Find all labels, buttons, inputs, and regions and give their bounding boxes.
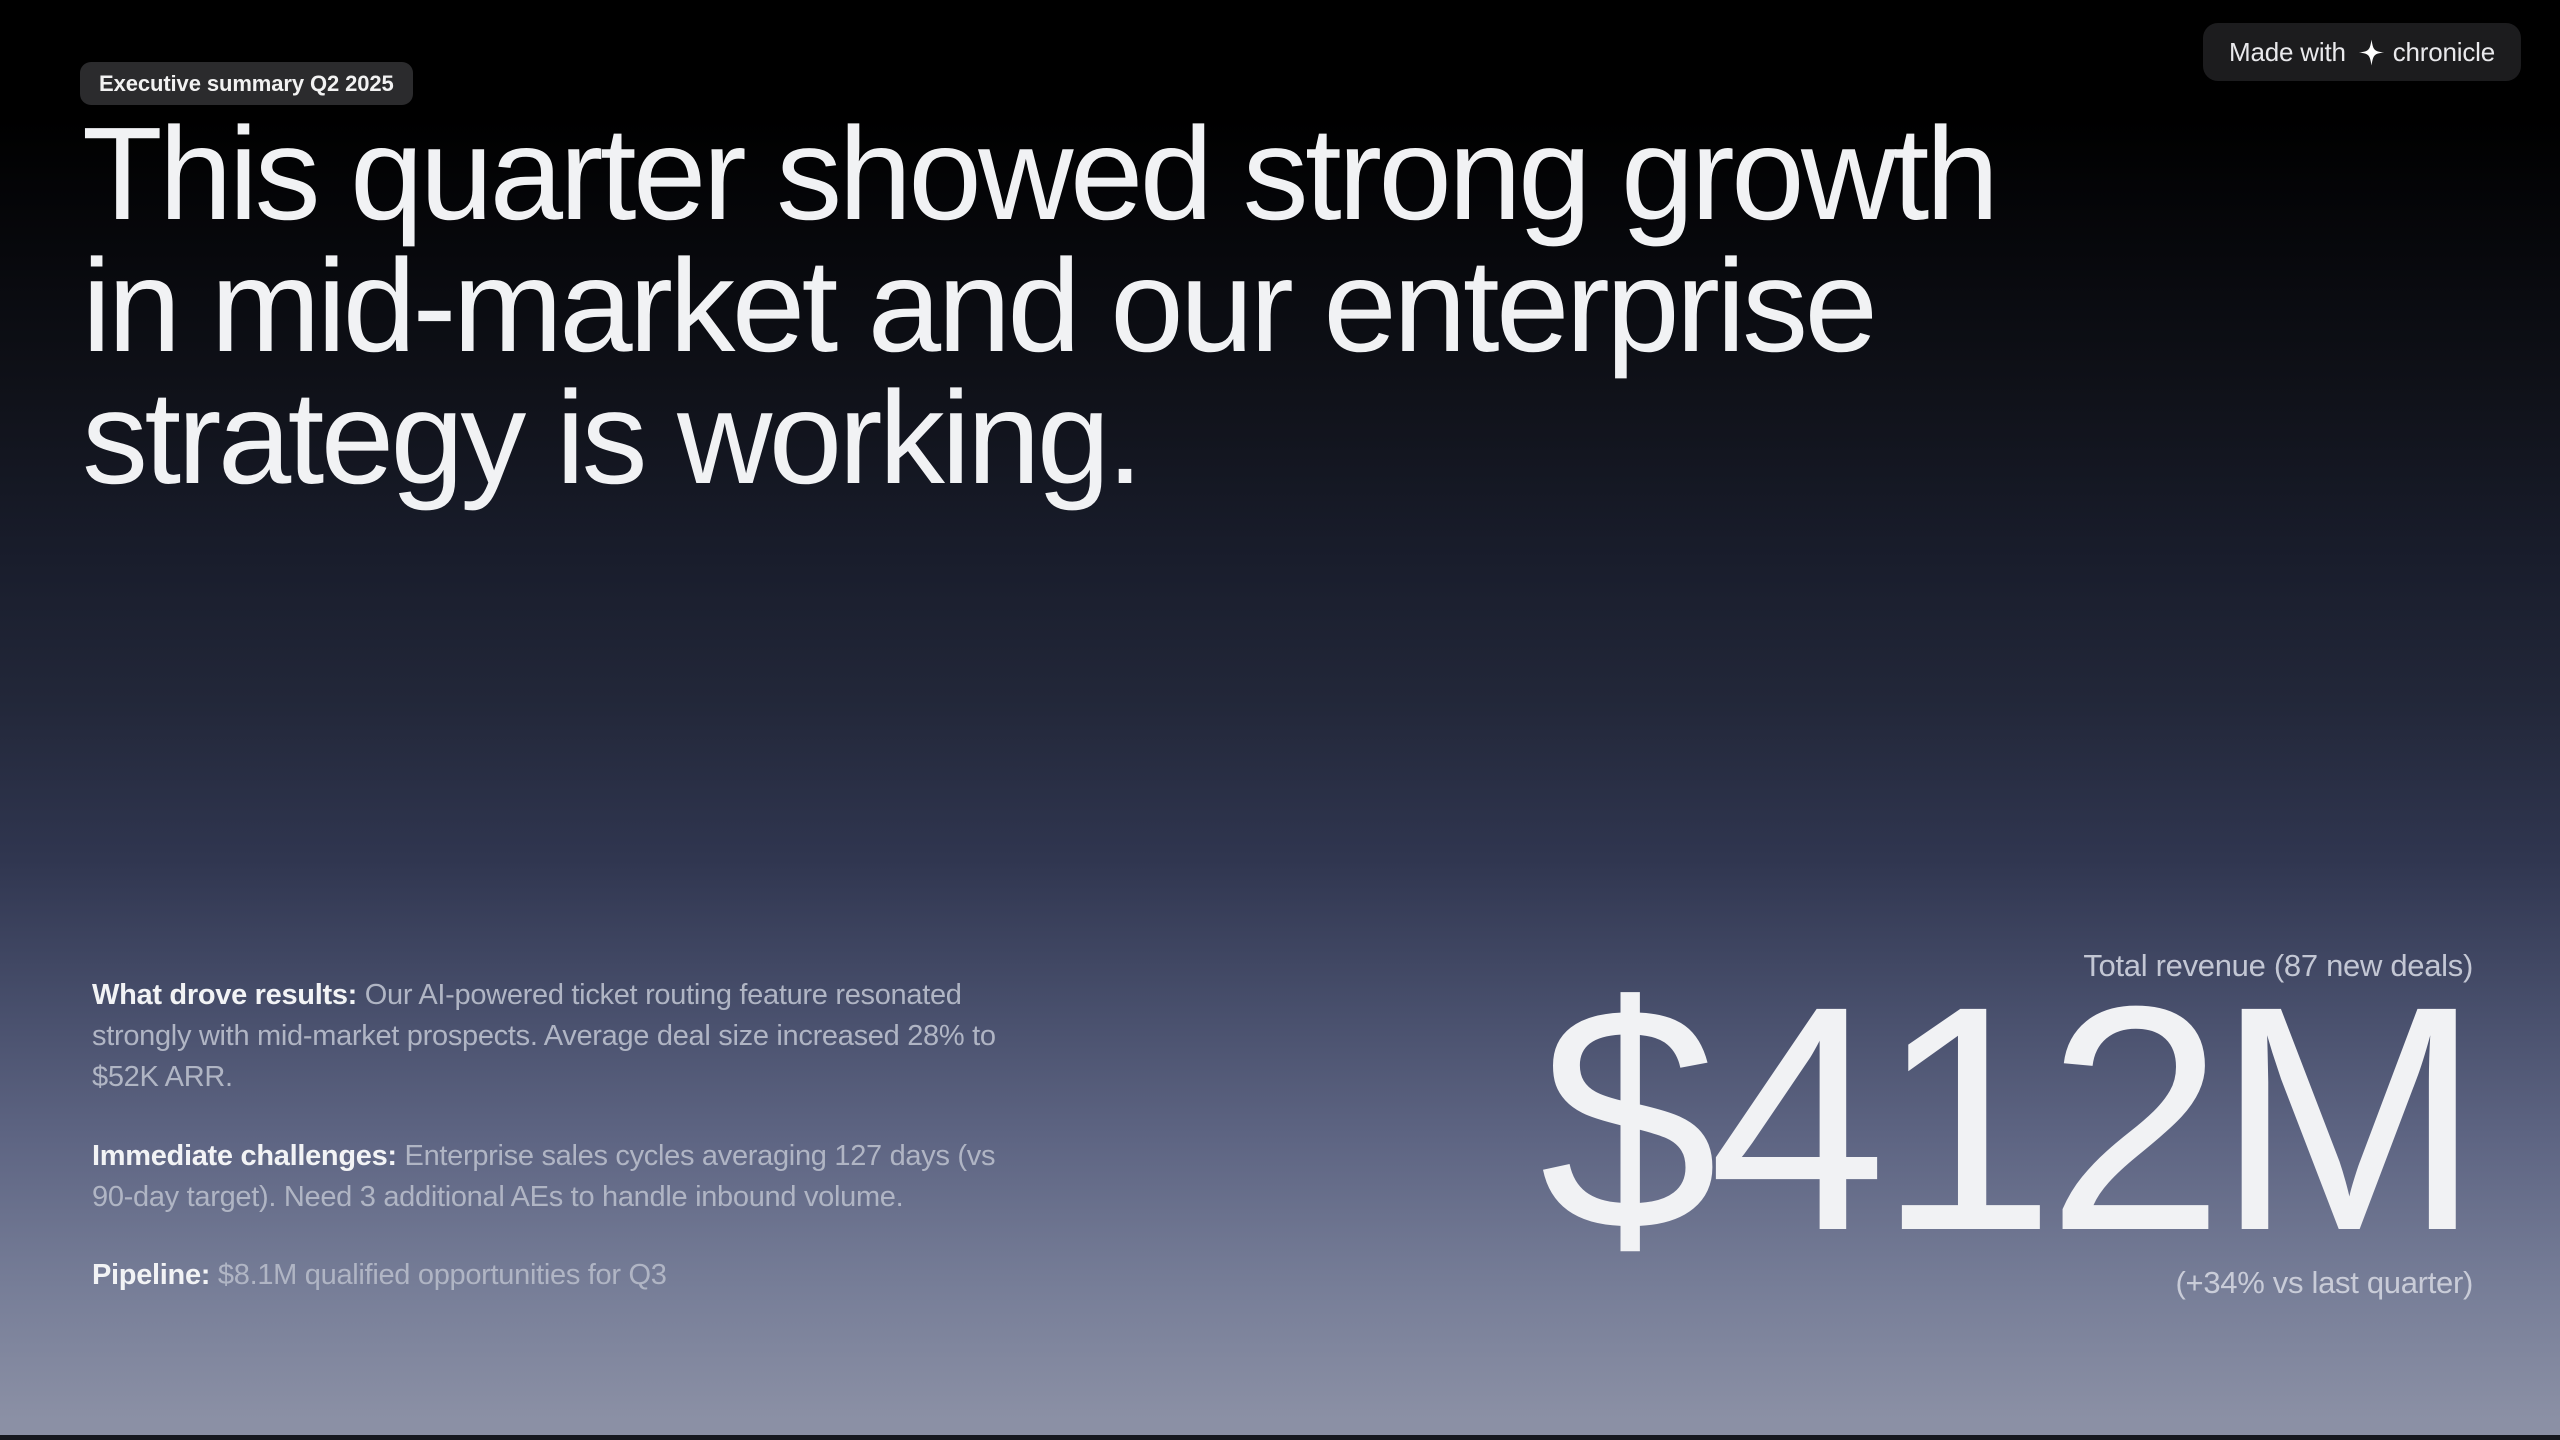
- sparkle-icon: [2358, 39, 2385, 66]
- made-with-chronicle-badge[interactable]: Made with chronicle: [2203, 23, 2521, 81]
- chronicle-brand: chronicle: [2358, 37, 2495, 68]
- stat-value: $412M: [1450, 987, 2473, 1249]
- note-label: Immediate challenges:: [92, 1140, 397, 1172]
- made-with-label: Made with: [2229, 37, 2346, 68]
- notes-column: What drove results: Our AI-powered ticke…: [92, 950, 1042, 1296]
- eyebrow-badge: Executive summary Q2 2025: [80, 62, 413, 105]
- slide-canvas: Executive summary Q2 2025 Made with chro…: [0, 0, 2560, 1440]
- note-item: Immediate challenges: Enterprise sales c…: [92, 1136, 1042, 1218]
- note-item: Pipeline: $8.1M qualified opportunities …: [92, 1255, 1042, 1296]
- page-title: This quarter showed strong growth in mid…: [82, 108, 2082, 504]
- bottom-edge-strip: [0, 1435, 2560, 1440]
- note-body: $8.1M qualified opportunities for Q3: [210, 1259, 666, 1291]
- note-item: What drove results: Our AI-powered ticke…: [92, 975, 1042, 1099]
- stat-block: Total revenue (87 new deals) $412M (+34%…: [1450, 950, 2480, 1298]
- note-label: What drove results:: [92, 979, 357, 1011]
- lower-content: What drove results: Our AI-powered ticke…: [0, 950, 2560, 1390]
- note-label: Pipeline:: [92, 1259, 210, 1291]
- chronicle-wordmark: chronicle: [2393, 37, 2495, 68]
